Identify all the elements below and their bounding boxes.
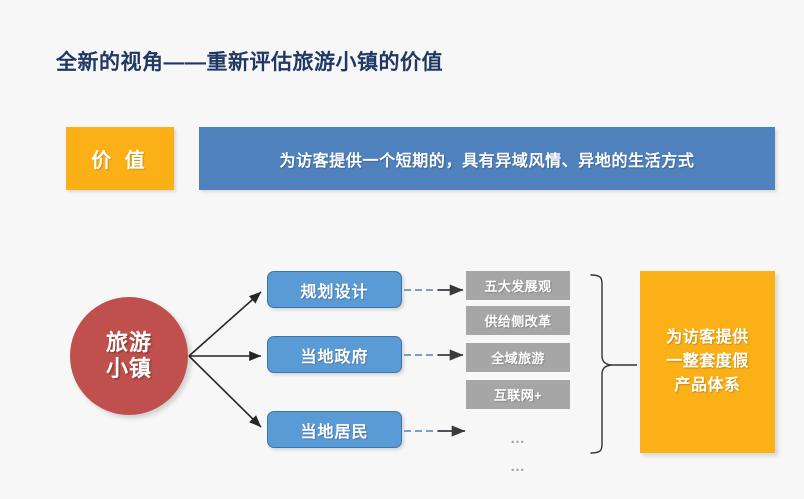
source-node-line-1: 旅游 — [106, 330, 152, 356]
arrow-town-to-residents — [189, 356, 261, 427]
actor-box-planning-design: 规划设计 — [267, 271, 402, 308]
slide-canvas: 全新的视角——重新评估旅游小镇的价值 价 值 为访客提供一个短期的，具有异域风情… — [0, 0, 804, 499]
actor-box-local-residents: 当地居民 — [267, 411, 402, 448]
source-node-tourism-town: 旅游 小镇 — [70, 297, 188, 415]
concept-ellipsis-2: … — [466, 455, 570, 477]
concept-box-internet-plus: 互联网+ — [466, 380, 570, 409]
grouping-brace — [591, 275, 611, 453]
concept-ellipsis-1: … — [466, 427, 570, 449]
result-panel-product-system: 为访客提供 一整套度假 产品体系 — [640, 271, 775, 453]
result-line-1: 为访客提供 — [666, 326, 749, 350]
concept-box-five-development-concepts: 五大发展观 — [466, 271, 570, 300]
concept-box-supply-side-reform: 供给侧改革 — [466, 306, 570, 335]
result-line-3: 产品体系 — [674, 374, 740, 398]
value-statement-banner: 为访客提供一个短期的，具有异域风情、异地的生活方式 — [199, 127, 775, 190]
actor-box-local-government: 当地政府 — [267, 336, 402, 373]
arrow-town-to-planning — [189, 292, 261, 356]
concept-box-all-for-one-tourism: 全域旅游 — [466, 343, 570, 372]
value-tag-label: 价 值 — [66, 127, 174, 190]
result-line-2: 一整套度假 — [666, 350, 749, 374]
page-title: 全新的视角——重新评估旅游小镇的价值 — [56, 46, 443, 76]
source-node-line-2: 小镇 — [106, 356, 152, 382]
